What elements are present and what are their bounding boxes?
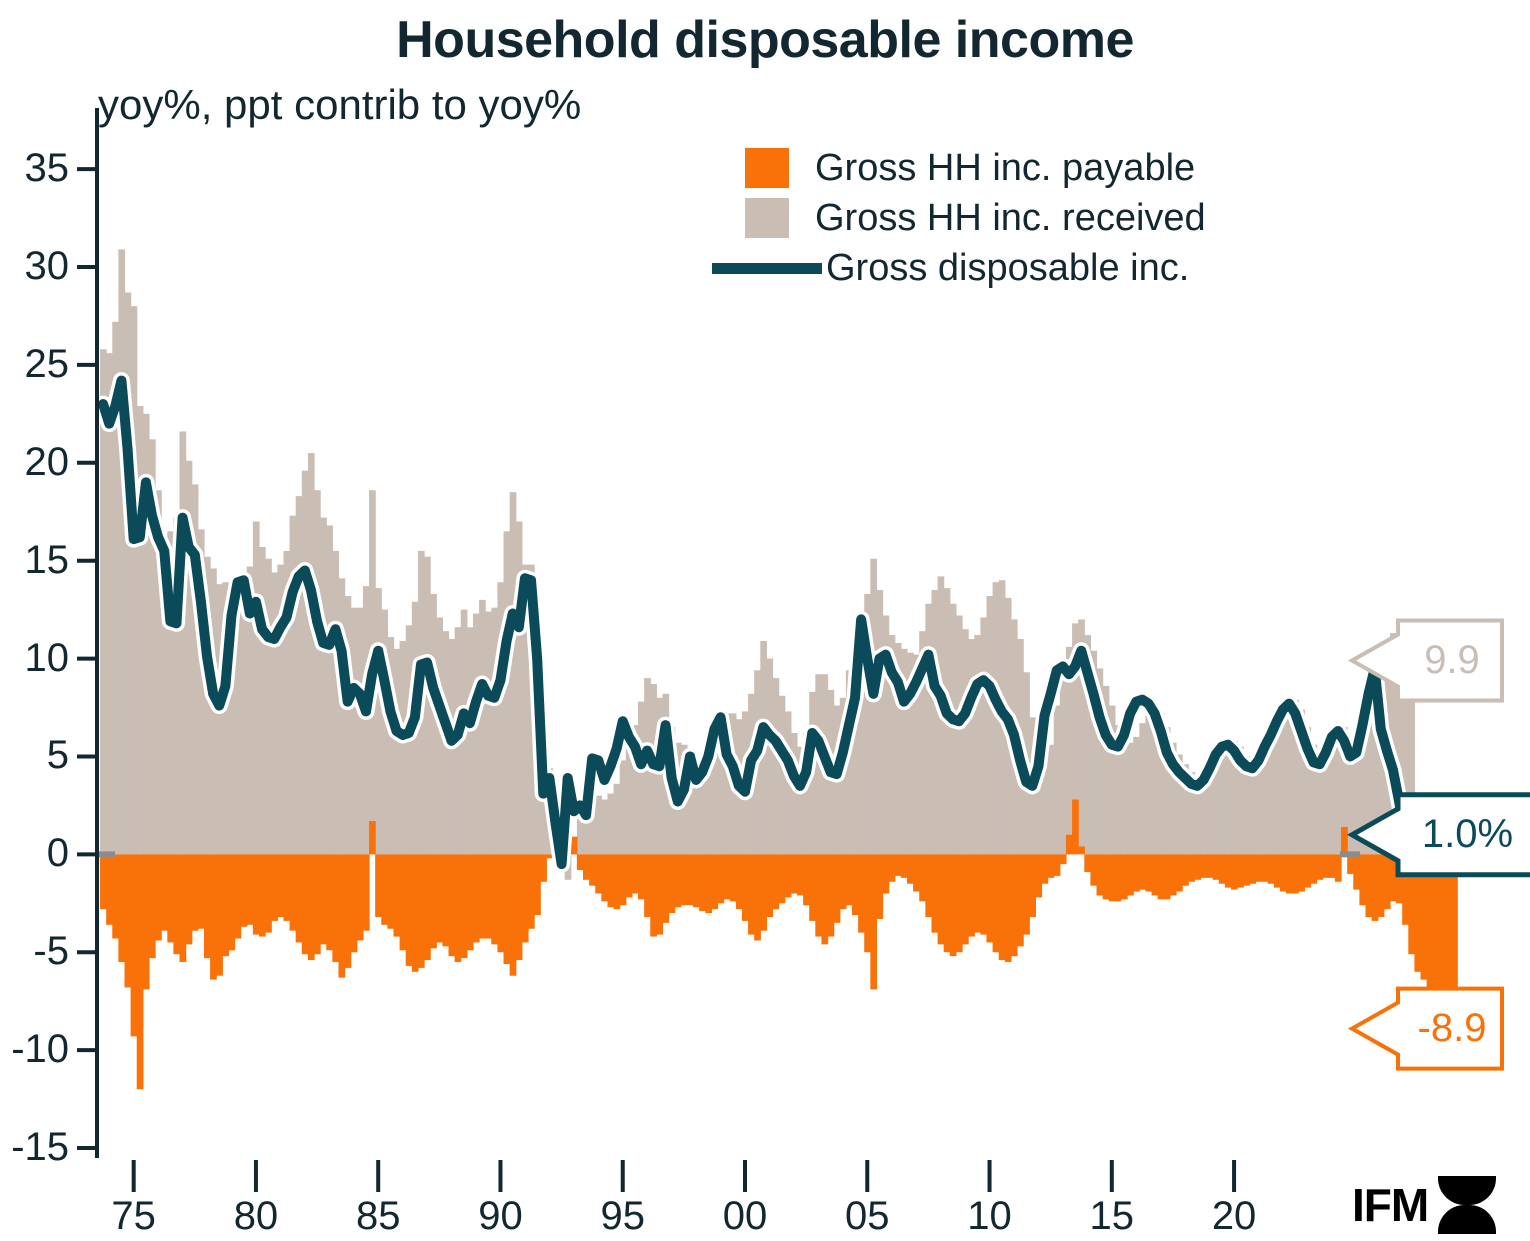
bar (1323, 854, 1330, 877)
bar (883, 854, 890, 893)
bar (381, 854, 388, 924)
bar (1207, 854, 1214, 877)
bar (308, 854, 315, 960)
x-tick-label: 75 (89, 1196, 179, 1236)
bar (210, 854, 217, 979)
ifm-bowtie-icon (1438, 1176, 1496, 1234)
bar (962, 629, 969, 854)
bar (870, 559, 877, 855)
bar (736, 854, 743, 909)
bar (1372, 854, 1379, 921)
brand-logo: IFM (1352, 1176, 1496, 1234)
bar (791, 854, 798, 893)
bar (491, 608, 498, 855)
bar (1060, 854, 1067, 864)
bar (1133, 737, 1140, 854)
bar (522, 854, 529, 942)
bar (620, 854, 627, 905)
bar (840, 854, 847, 909)
bar (259, 547, 266, 854)
bar (870, 854, 877, 989)
bar (577, 854, 584, 870)
x-tick-label: 15 (1067, 1196, 1157, 1236)
bar (418, 854, 425, 968)
bar (614, 854, 621, 909)
bar (461, 854, 468, 958)
chart-container: Household disposable income yoy%, ppt co… (0, 0, 1530, 1241)
bar (662, 854, 669, 923)
bar (241, 854, 248, 926)
bar (999, 854, 1006, 960)
bar (1152, 854, 1159, 895)
bar (632, 854, 639, 893)
bar (1035, 854, 1042, 897)
bar (1384, 854, 1391, 909)
bar (1145, 711, 1152, 854)
bar (118, 854, 125, 962)
bar (228, 854, 235, 950)
bar (143, 854, 150, 989)
bar (1109, 854, 1116, 901)
bar (1188, 854, 1195, 881)
bar (797, 854, 804, 895)
bar (308, 453, 315, 854)
payable-callout-value: -8.9 (1408, 1008, 1496, 1048)
bar (302, 854, 309, 954)
bar (968, 854, 975, 936)
bar (595, 854, 602, 893)
bar (100, 854, 107, 909)
bar (1353, 854, 1360, 889)
bar (1298, 854, 1305, 891)
bar (938, 854, 945, 944)
bar (974, 635, 981, 854)
x-tick-label: 10 (945, 1196, 1035, 1236)
bar (504, 854, 511, 964)
bar (516, 854, 523, 960)
bar (357, 854, 364, 940)
bar (253, 854, 260, 934)
bar (724, 854, 731, 899)
bar (106, 854, 113, 924)
bar (1268, 854, 1275, 883)
bar (375, 854, 382, 917)
bar (497, 854, 504, 952)
bar (1378, 854, 1385, 917)
bar (137, 854, 144, 1089)
bar (216, 584, 223, 854)
bar (125, 854, 132, 987)
bar (326, 854, 333, 950)
bar (895, 854, 902, 876)
bar (485, 612, 492, 855)
bar (363, 586, 370, 854)
bar (1237, 854, 1244, 887)
bar (1255, 764, 1262, 854)
bar (394, 649, 401, 855)
bar (962, 854, 969, 944)
bar (290, 516, 297, 855)
bar (742, 854, 749, 921)
bar (296, 854, 303, 942)
bar (155, 854, 162, 940)
legend-swatch-disposable (712, 263, 822, 274)
bar (277, 854, 284, 917)
x-tick-label: 95 (578, 1196, 668, 1236)
bar (889, 854, 896, 881)
bar (338, 578, 345, 854)
bar (510, 854, 517, 975)
bar (1335, 854, 1342, 881)
bar (314, 490, 321, 854)
bar (1329, 854, 1336, 877)
x-tick-label: 20 (1189, 1196, 1279, 1236)
received-callout-value: 9.9 (1408, 640, 1496, 680)
bar (1213, 854, 1220, 879)
bar (351, 854, 358, 952)
bar (919, 854, 926, 901)
bar (950, 854, 957, 956)
bar (1255, 854, 1262, 881)
bar (283, 854, 290, 921)
bar (528, 854, 535, 928)
bar (357, 608, 364, 855)
bar (1231, 854, 1238, 889)
bar (180, 854, 187, 962)
bar (131, 306, 138, 854)
bar (198, 854, 205, 928)
bar (375, 588, 382, 854)
bar (534, 854, 541, 915)
bar (864, 854, 871, 952)
y-tick-label: -5 (0, 931, 69, 971)
bar (424, 854, 431, 960)
bar (436, 854, 443, 942)
legend-label-received: Gross HH inc. received (815, 198, 1206, 238)
bar (173, 854, 180, 954)
bar (925, 604, 932, 855)
bar (186, 854, 193, 944)
bar (137, 406, 144, 854)
bar (980, 854, 987, 934)
bar (1121, 854, 1128, 899)
bar (271, 572, 278, 854)
bar (931, 854, 938, 932)
legend-item-disposable[interactable]: Gross disposable inc. (745, 245, 1345, 291)
y-tick-label: 30 (0, 246, 69, 286)
bar (834, 854, 841, 923)
bar (1304, 854, 1311, 887)
legend: Gross HH inc. payable Gross HH inc. rece… (745, 145, 1345, 295)
bar (1023, 854, 1030, 934)
ifm-wordmark: IFM (1352, 1182, 1428, 1228)
bar (821, 854, 828, 944)
bar (913, 854, 920, 891)
bar (907, 854, 914, 883)
bar (479, 600, 486, 855)
y-tick-label: 35 (0, 148, 69, 188)
bar (1127, 743, 1134, 855)
bar (638, 702, 645, 855)
bar (455, 854, 462, 962)
bar (412, 854, 419, 971)
bar (601, 800, 608, 855)
bar (1262, 756, 1269, 854)
bar (687, 854, 694, 905)
bar (387, 854, 394, 928)
bar (314, 854, 321, 954)
bar (1262, 854, 1269, 881)
y-tick-label: 20 (0, 442, 69, 482)
bar (607, 794, 614, 855)
bar (204, 854, 211, 958)
bar (785, 854, 792, 897)
bar (424, 557, 431, 855)
bar (974, 854, 981, 932)
bar (1341, 827, 1348, 854)
bar (467, 854, 474, 950)
bar (265, 559, 272, 855)
bar (589, 854, 596, 885)
bar (222, 854, 229, 956)
bar (583, 854, 590, 879)
y-tick-label: 15 (0, 540, 69, 580)
bar (332, 551, 339, 854)
bar (1249, 854, 1256, 883)
x-tick-label: 85 (333, 1196, 423, 1236)
bar (986, 854, 993, 942)
bar (1176, 854, 1183, 891)
bar (338, 854, 345, 977)
bar (1225, 854, 1232, 887)
bar (705, 854, 712, 913)
x-tick-label: 90 (455, 1196, 545, 1236)
bar (993, 854, 1000, 952)
bar (473, 614, 480, 855)
bar (302, 471, 309, 855)
bar (1145, 854, 1152, 891)
bar (320, 854, 327, 944)
bar (400, 854, 407, 950)
legend-swatch-payable (745, 148, 789, 188)
bar (656, 854, 663, 934)
bar (473, 854, 480, 942)
bar (1317, 854, 1324, 879)
bar (876, 854, 883, 919)
y-tick-label: -15 (0, 1127, 69, 1167)
bar (406, 854, 413, 966)
bar (803, 854, 810, 905)
bar (1243, 854, 1250, 885)
disposable-callout-value: 1.0% (1408, 814, 1527, 854)
bar (931, 590, 938, 854)
bar (766, 854, 773, 917)
bar (1194, 854, 1201, 879)
bar (644, 854, 651, 917)
bar (614, 784, 621, 854)
bar (730, 854, 737, 901)
bar (1127, 854, 1134, 895)
bar (394, 854, 401, 936)
bar (815, 854, 822, 936)
y-tick-label: 25 (0, 344, 69, 384)
bar (320, 518, 327, 855)
bar (1011, 854, 1018, 956)
bar (485, 854, 492, 938)
bar (430, 854, 437, 948)
bar (265, 854, 272, 932)
bar (858, 854, 865, 932)
bar (711, 854, 718, 909)
bar (1115, 854, 1122, 901)
bar (192, 854, 199, 930)
bar (1359, 854, 1366, 905)
bar (626, 854, 633, 897)
bar (430, 594, 437, 854)
legend-item-payable[interactable]: Gross HH inc. payable (745, 145, 1345, 191)
bar (773, 678, 780, 854)
bar (491, 854, 498, 944)
bar (1054, 706, 1061, 855)
legend-label-disposable: Gross disposable inc. (826, 248, 1189, 288)
bar (1133, 854, 1140, 891)
bar (638, 854, 645, 899)
bar (846, 854, 853, 905)
bar (442, 854, 449, 946)
bar (1139, 854, 1146, 889)
bar (235, 854, 242, 938)
bar (332, 854, 339, 962)
bar (828, 854, 835, 936)
bar (1066, 835, 1073, 855)
bar (693, 854, 700, 907)
bar (1329, 749, 1336, 855)
bar (675, 854, 682, 907)
bar (1219, 854, 1226, 883)
bar (118, 249, 125, 854)
bar (681, 854, 688, 905)
bar (1054, 854, 1061, 876)
bar (1042, 854, 1049, 883)
bar (1274, 854, 1281, 887)
bar (901, 854, 908, 877)
bar (760, 854, 767, 930)
bar (400, 641, 407, 854)
bar (1029, 854, 1036, 917)
bar (944, 854, 951, 952)
bars-received (100, 249, 1415, 879)
bar (607, 854, 614, 907)
bar (595, 796, 602, 855)
x-tick-label: 05 (822, 1196, 912, 1236)
bar (253, 522, 260, 855)
bar (540, 854, 547, 881)
bar (1084, 854, 1091, 872)
bar (1170, 854, 1177, 895)
bar (1274, 731, 1281, 854)
bar (748, 854, 755, 934)
bar (754, 854, 761, 940)
bar (669, 854, 676, 913)
bar (601, 854, 608, 901)
bar (1139, 723, 1146, 854)
bar (650, 854, 657, 936)
bar (1121, 737, 1128, 854)
bar (1090, 854, 1097, 885)
bar (956, 854, 963, 952)
y-tick-label: 0 (0, 833, 69, 873)
bar (180, 431, 187, 854)
bar (925, 854, 932, 917)
legend-label-payable: Gross HH inc. payable (815, 148, 1195, 188)
y-tick-label: 10 (0, 638, 69, 678)
bar (1182, 854, 1189, 885)
bar (852, 854, 859, 915)
bar (1048, 745, 1055, 855)
bar (449, 854, 456, 956)
bar (718, 854, 725, 903)
bar (1200, 854, 1207, 877)
bar (1323, 760, 1330, 854)
bar (131, 854, 138, 1036)
bar (1366, 854, 1373, 917)
bar (1048, 854, 1055, 877)
bar (779, 696, 786, 855)
bar (1292, 854, 1299, 893)
x-tick-label: 80 (211, 1196, 301, 1236)
bar (809, 854, 816, 921)
bar (271, 854, 278, 921)
bar (773, 854, 780, 909)
bar (479, 854, 486, 938)
bar (1164, 854, 1171, 899)
bar (620, 760, 627, 854)
bar (986, 596, 993, 854)
y-tick-label: 5 (0, 735, 69, 775)
bar (1103, 854, 1110, 899)
bar (326, 525, 333, 854)
bar (1005, 854, 1012, 962)
bar (296, 496, 303, 854)
bar (1280, 717, 1287, 854)
bar (1317, 758, 1324, 854)
bar (369, 821, 376, 854)
bar (1280, 854, 1287, 891)
bar (112, 854, 119, 938)
bar (876, 590, 883, 854)
bar (980, 617, 987, 854)
bar (161, 854, 168, 930)
bar (510, 492, 517, 854)
bar (699, 854, 706, 911)
y-tick-label: -10 (0, 1029, 69, 1069)
bar (1310, 854, 1317, 883)
bar (1072, 800, 1079, 855)
bar (345, 854, 352, 968)
bar (1268, 743, 1275, 855)
legend-swatch-received (745, 198, 789, 238)
x-tick-label: 00 (700, 1196, 790, 1236)
bar (1078, 847, 1085, 855)
bar (1017, 854, 1024, 946)
legend-item-received[interactable]: Gross HH inc. received (745, 195, 1345, 241)
bar (259, 854, 266, 936)
bar (351, 608, 358, 855)
bar (968, 639, 975, 854)
bar (1158, 854, 1165, 899)
bar (167, 854, 174, 942)
bar (1060, 674, 1067, 854)
